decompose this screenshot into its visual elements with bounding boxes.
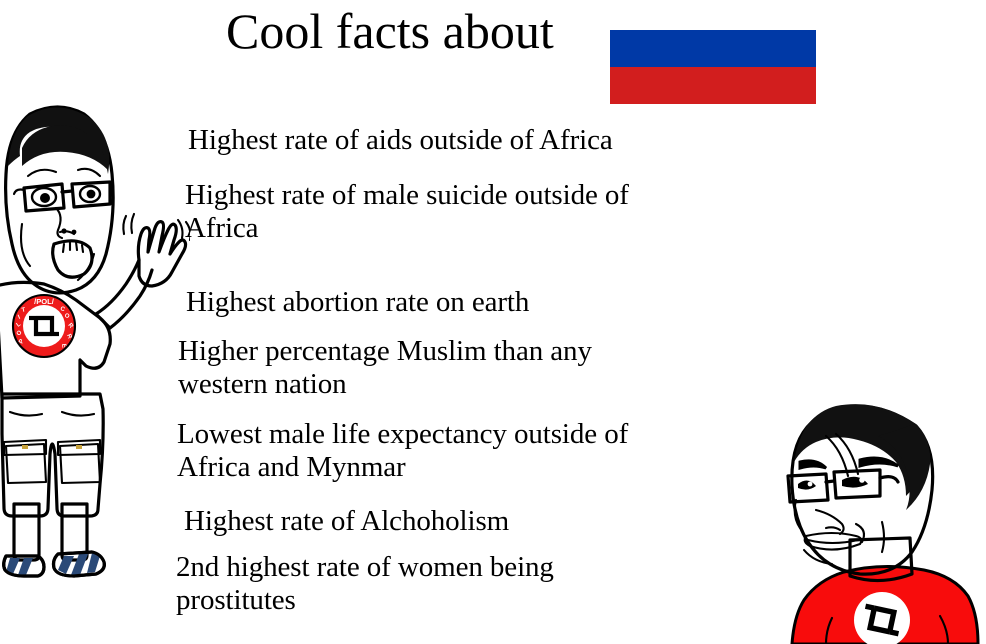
soyjak-excited-figure: /POL/ /POL/ P O L I T C O R R E: [0, 104, 190, 582]
fact-line-4: Higher percentage Muslim than any wester…: [178, 335, 592, 401]
soyjak-head: [6, 107, 114, 293]
fact-line-7: 2nd highest rate of women being prostitu…: [176, 551, 554, 617]
meme-canvas: Cool facts about Highest rate of aids ou…: [0, 0, 986, 644]
fact-line-2: Highest rate of male suicide outside of …: [185, 179, 629, 245]
page-title: Cool facts about: [226, 2, 554, 60]
fact-line-3: Highest abortion rate on earth: [186, 286, 529, 319]
haiti-flag: [610, 30, 816, 104]
soyjak-excited-drawing: /POL/ /POL/ P O L I T C O R R E: [0, 104, 190, 582]
soyjak-cargo-shorts: [2, 394, 103, 516]
svg-text:/POL/: /POL/: [0, 104, 19, 106]
smug-wojak-drawing: [782, 404, 986, 644]
badge-top-text: /POL/: [34, 297, 55, 306]
soyjak-sandals: [4, 552, 105, 576]
flag-band-bottom: [610, 67, 816, 104]
fact-line-5: Lowest male life expectancy outside of A…: [177, 418, 628, 484]
smug-wojak-figure: [782, 404, 986, 644]
fact-line-1: Highest rate of aids outside of Africa: [188, 124, 613, 157]
fact-line-6: Highest rate of Alchoholism: [184, 505, 509, 538]
flag-band-top: [610, 30, 816, 67]
